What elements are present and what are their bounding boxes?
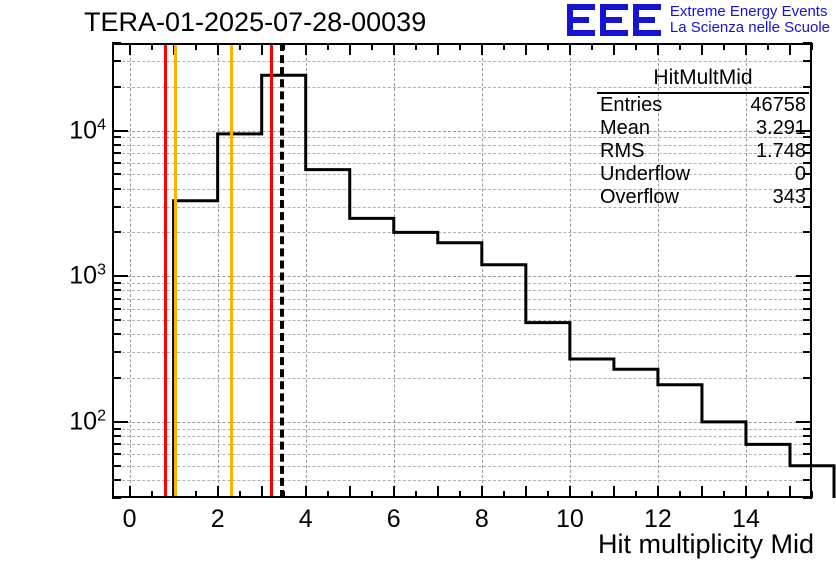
stats-row-label: Underflow <box>600 163 690 186</box>
stats-row-value: 0 <box>795 163 806 186</box>
x-axis-title: Hit multiplicity Mid <box>598 529 814 560</box>
stats-row-label: Entries <box>600 94 662 117</box>
y-axis-tick-label: 104 <box>69 116 106 145</box>
eee-logo-icon <box>567 3 663 37</box>
stats-row-label: RMS <box>600 140 644 163</box>
x-axis-tick-label: 10 <box>556 505 584 534</box>
eee-logo-text: Extreme Energy Events La Scienza nelle S… <box>670 4 830 36</box>
y-axis-tick-mantissa: 10 <box>69 116 97 144</box>
stats-row-value: 3.291 <box>756 117 806 140</box>
x-axis-tick-label: 12 <box>644 505 672 534</box>
page-title: TERA-01-2025-07-28-00039 <box>84 7 426 38</box>
y-axis-tick-label: 102 <box>69 407 106 436</box>
y-axis-tick-mantissa: 10 <box>69 262 97 290</box>
plot-canvas: TERA-01-2025-07-28-00039 <box>0 0 836 572</box>
stats-row: Mean3.291 <box>597 117 809 140</box>
stats-title: HitMultMid <box>597 66 809 94</box>
eee-logo-line1: Extreme Energy Events <box>670 4 830 20</box>
stats-row: Overflow343 <box>597 186 809 209</box>
stats-row-label: Overflow <box>600 186 679 209</box>
stats-row-label: Mean <box>600 117 650 140</box>
x-axis-tick-label: 4 <box>299 505 313 534</box>
y-axis-tick-exponent: 3 <box>97 262 106 279</box>
stats-row: Underflow0 <box>597 163 809 186</box>
x-axis-tick-label: 6 <box>387 505 401 534</box>
x-axis-tick-label: 14 <box>732 505 760 534</box>
stats-row-value: 343 <box>773 186 806 209</box>
y-axis-tick-label: 103 <box>69 262 106 291</box>
y-axis-tick-exponent: 2 <box>97 407 106 424</box>
stats-row: RMS1.748 <box>597 140 809 163</box>
eee-logo: Extreme Energy Events La Scienza nelle S… <box>567 2 830 38</box>
y-axis-tick-exponent: 4 <box>97 116 106 133</box>
x-axis-tick-label: 0 <box>123 505 137 534</box>
x-axis-tick-label: 8 <box>475 505 489 534</box>
x-axis-tick-label: 2 <box>211 505 225 534</box>
stats-rows: Entries46758Mean3.291RMS1.748Underflow0O… <box>597 94 809 209</box>
y-axis-tick-mantissa: 10 <box>69 408 97 436</box>
stats-box: HitMultMid Entries46758Mean3.291RMS1.748… <box>597 66 809 209</box>
stats-row-value: 46758 <box>750 94 806 117</box>
stats-row-value: 1.748 <box>756 140 806 163</box>
stats-row: Entries46758 <box>597 94 809 117</box>
eee-logo-line2: La Scienza nelle Scuole <box>670 20 830 36</box>
